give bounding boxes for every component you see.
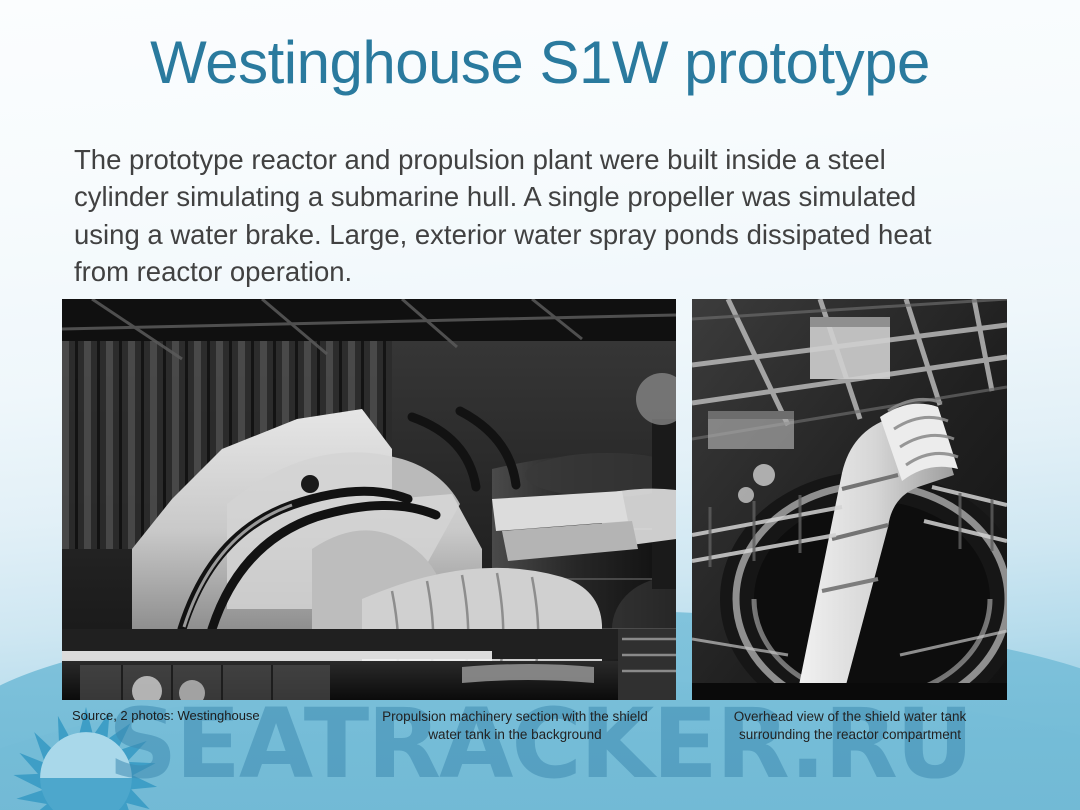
photo-group (62, 299, 1007, 700)
caption-source: Source, 2 photos: Westinghouse (72, 708, 260, 723)
page-title: Westinghouse S1W prototype (0, 28, 1080, 97)
slide-canvas: SEATRACKER.RU Westinghouse S1W prototype… (0, 0, 1080, 810)
caption-right-photo: Overhead view of the shield water tank s… (700, 708, 1000, 744)
photo-shield-water-tank (692, 299, 1007, 700)
body-paragraph: The prototype reactor and propulsion pla… (74, 141, 984, 291)
caption-left-photo: Propulsion machinery section with the sh… (370, 708, 660, 744)
photo-propulsion-machinery (62, 299, 676, 700)
